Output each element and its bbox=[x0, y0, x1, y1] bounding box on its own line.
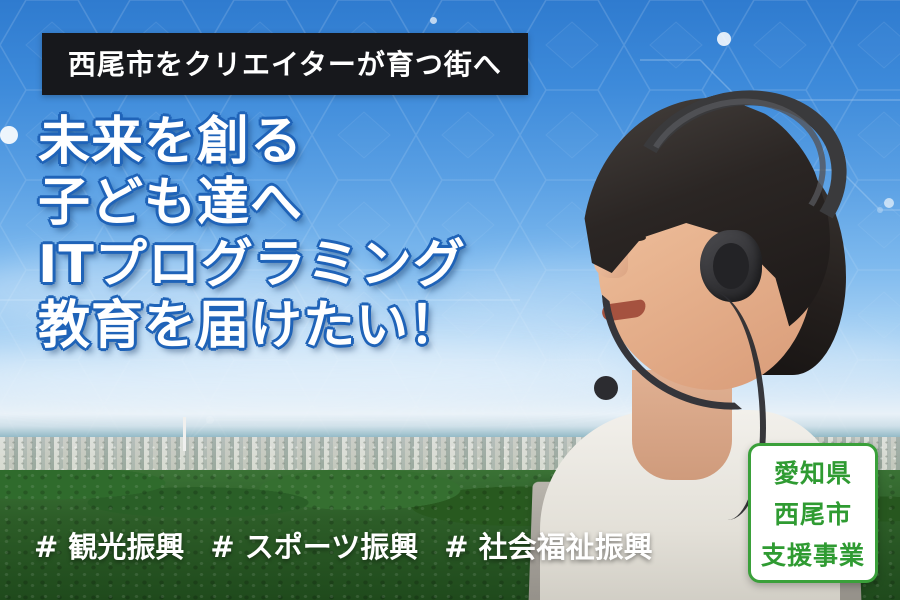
badge-line-3: 支援事業 bbox=[761, 536, 865, 572]
hashtag-item: # 観光振興 bbox=[34, 524, 184, 566]
decorative-dot bbox=[0, 126, 18, 144]
ribbon-text: 西尾市をクリエイターが育つ街へ bbox=[68, 43, 502, 83]
badge-line-2: 西尾市 bbox=[774, 495, 852, 531]
headline: 未来を創る 子ども達へ ITプログラミング 教育を届けたい！ bbox=[38, 112, 578, 357]
headline-line-4: 教育を届けたい！ bbox=[38, 296, 578, 357]
promotional-banner: 西尾市をクリエイターが育つ街へ 未来を創る 子ども達へ ITプログラミング 教育… bbox=[0, 0, 900, 600]
decorative-dot bbox=[717, 32, 731, 46]
headline-line-1: 未来を創る bbox=[38, 112, 578, 173]
headline-line-2: 子ども達へ bbox=[38, 173, 578, 234]
hashtag-item: # 社会福祉振興 bbox=[444, 524, 652, 566]
badge-line-1: 愛知県 bbox=[774, 454, 852, 490]
headset-mic-icon bbox=[594, 376, 618, 400]
ribbon-banner: 西尾市をクリエイターが育つ街へ bbox=[42, 33, 528, 95]
radio-tower bbox=[183, 417, 186, 451]
headline-line-3: ITプログラミング bbox=[38, 235, 578, 296]
decorative-dot bbox=[884, 198, 894, 208]
support-program-badge: 愛知県 西尾市 支援事業 bbox=[748, 443, 878, 583]
hashtag-list: # 観光振興 # スポーツ振興 # 社会福祉振興 bbox=[34, 524, 653, 566]
decorative-dot bbox=[430, 17, 437, 24]
headset-earcup-inner bbox=[713, 243, 749, 289]
hashtag-item: # スポーツ振興 bbox=[210, 524, 418, 566]
